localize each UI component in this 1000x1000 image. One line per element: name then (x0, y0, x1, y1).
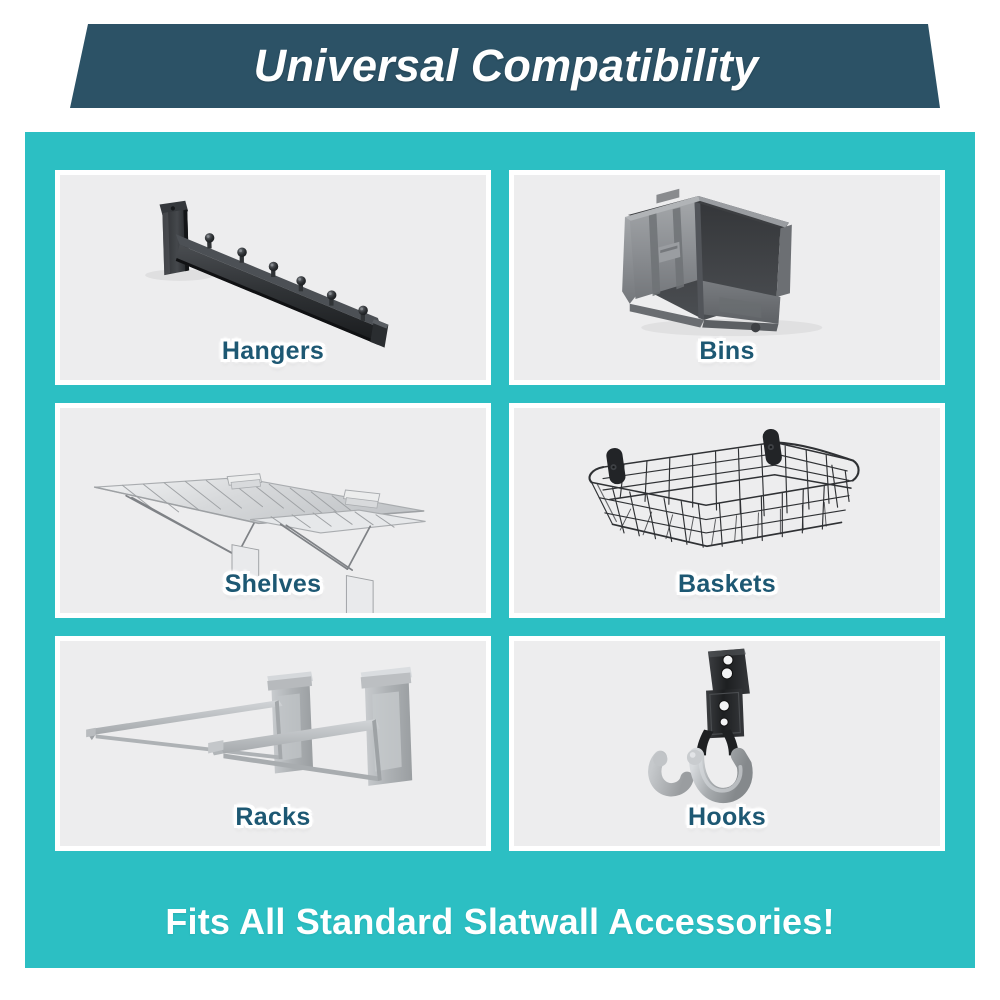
page-title: Universal Compatibility (6, 24, 1000, 108)
product-tile-grid: Hangers (55, 170, 945, 851)
slatwall-hanger-arm-icon (60, 175, 486, 380)
double-j-hook-icon (514, 641, 940, 846)
product-tile-baskets[interactable]: Baskets (509, 403, 945, 618)
product-tile-bins[interactable]: Bins (509, 170, 945, 385)
footer-tagline: Fits All Standard Slatwall Accessories! (165, 901, 834, 943)
product-tile-racks[interactable]: Racks (55, 636, 491, 851)
storage-bin-icon (514, 175, 940, 380)
product-tile-hooks[interactable]: Hooks (509, 636, 945, 851)
wire-shelf-icon (60, 408, 486, 613)
product-tile-shelves[interactable]: Shelves (55, 403, 491, 618)
product-tile-hangers[interactable]: Hangers (55, 170, 491, 385)
header-banner: Universal Compatibility (0, 24, 1000, 108)
compatibility-panel: Hangers (25, 132, 975, 968)
footer-strip: Fits All Standard Slatwall Accessories! (25, 876, 975, 968)
slatwall-rack-hooks-icon (60, 641, 486, 846)
wire-basket-icon (514, 408, 940, 613)
